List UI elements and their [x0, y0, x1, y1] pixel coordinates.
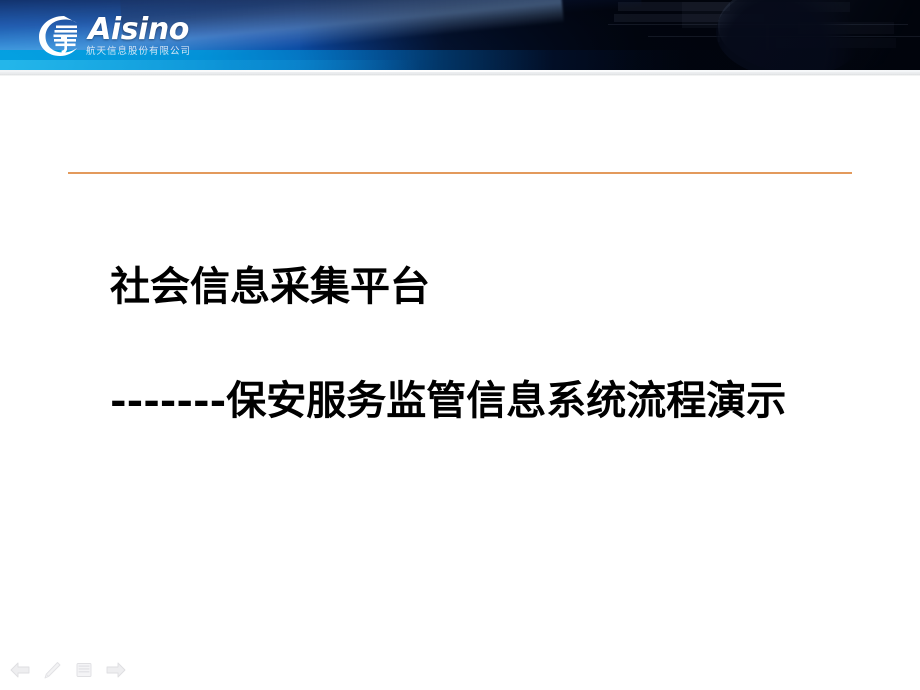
banner-bottom-glow-highlight [0, 60, 420, 70]
slide-title-line-2: -------保安服务监管信息系统流程演示 [110, 372, 870, 430]
presentation-slide: Aisino 航天信息股份有限公司 社会信息采集平台 -------保安服务监管… [0, 0, 920, 690]
aisino-logo: Aisino 航天信息股份有限公司 [34, 11, 191, 61]
banner-bottom-shadow [0, 72, 920, 76]
next-arrow-icon[interactable] [105, 660, 127, 680]
slideshow-navigation-bar [9, 658, 127, 682]
pen-icon[interactable] [41, 660, 63, 680]
slide-menu-icon[interactable] [73, 660, 95, 680]
aisino-emblem-icon [34, 13, 84, 59]
aisino-wordmark-group: Aisino 航天信息股份有限公司 [86, 15, 191, 58]
orange-rule [68, 172, 852, 174]
slide-title-block: 社会信息采集平台 -------保安服务监管信息系统流程演示 [110, 258, 870, 430]
aisino-company-name-cn: 航天信息股份有限公司 [86, 46, 191, 58]
previous-arrow-icon[interactable] [9, 660, 31, 680]
slide-title-line-1: 社会信息采集平台 [110, 258, 870, 316]
aisino-wordmark: Aisino [88, 15, 189, 45]
